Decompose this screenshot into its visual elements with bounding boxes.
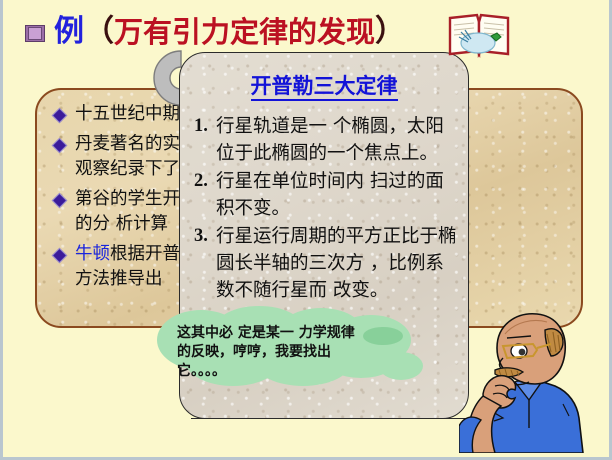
- thinking-man-illustration: [459, 308, 611, 453]
- kepler-law-number: 3.: [194, 223, 208, 250]
- kepler-law-text: 行星在单位时间内 扫过的面积不变。: [216, 171, 444, 219]
- kepler-law-text: 行星运行周期的平方正比于椭圆长半轴的三次方 ，比例系数不随行星而 改变。: [216, 226, 457, 301]
- purple-square-bullet-icon: [25, 23, 44, 42]
- kepler-law-number: 1.: [194, 113, 208, 140]
- title-main-text: 例: [54, 17, 84, 47]
- kepler-laws-list: 1. 行星轨道是一 个椭圆，太阳位于此椭圆的一个焦点上。 2. 行星在单位时间内…: [180, 113, 468, 304]
- open-book-icon: [447, 12, 511, 60]
- diamond-bullet-icon: [52, 248, 68, 264]
- title-paren-open: （: [84, 17, 114, 47]
- diamond-bullet-icon: [52, 108, 68, 124]
- thought-bubble: 这其中必 定是某一 力学规律 的反映，哼哼，我要找出它。。。。: [155, 306, 423, 398]
- diamond-bullet-icon: [52, 193, 68, 209]
- title-subtitle-text: 万有引力定律的发现: [114, 18, 375, 47]
- page-title: 例 （ 万有引力定律的发现 ）: [25, 12, 405, 52]
- title-paren-close: ）: [375, 17, 405, 47]
- kepler-law-text: 行星轨道是一 个椭圆，太阳位于此椭圆的一个焦点上。: [216, 116, 444, 164]
- kepler-heading: 开普勒三大定律: [251, 75, 398, 101]
- kepler-law-item-3: 3. 行星运行周期的平方正比于椭圆长半轴的三次方 ，比例系数不随行星而 改变。: [194, 223, 460, 304]
- slide-canvas: 例 （ 万有引力定律的发现 ） 十五世纪中期，哥白尼提出了日心说。 丹麦著名的实…: [0, 0, 612, 460]
- kepler-law-item-2: 2. 行星在单位时间内 扫过的面积不变。: [194, 168, 460, 222]
- thought-bubble-text: 这其中必 定是某一 力学规律 的反映，哼哼，我要找出它。。。。: [177, 324, 367, 381]
- callout-bottom-rule: [191, 418, 469, 419]
- diamond-bullet-icon: [52, 138, 68, 154]
- kepler-law-item-1: 1. 行星轨道是一 个椭圆，太阳位于此椭圆的一个焦点上。: [194, 113, 460, 167]
- kepler-law-number: 2.: [194, 168, 208, 195]
